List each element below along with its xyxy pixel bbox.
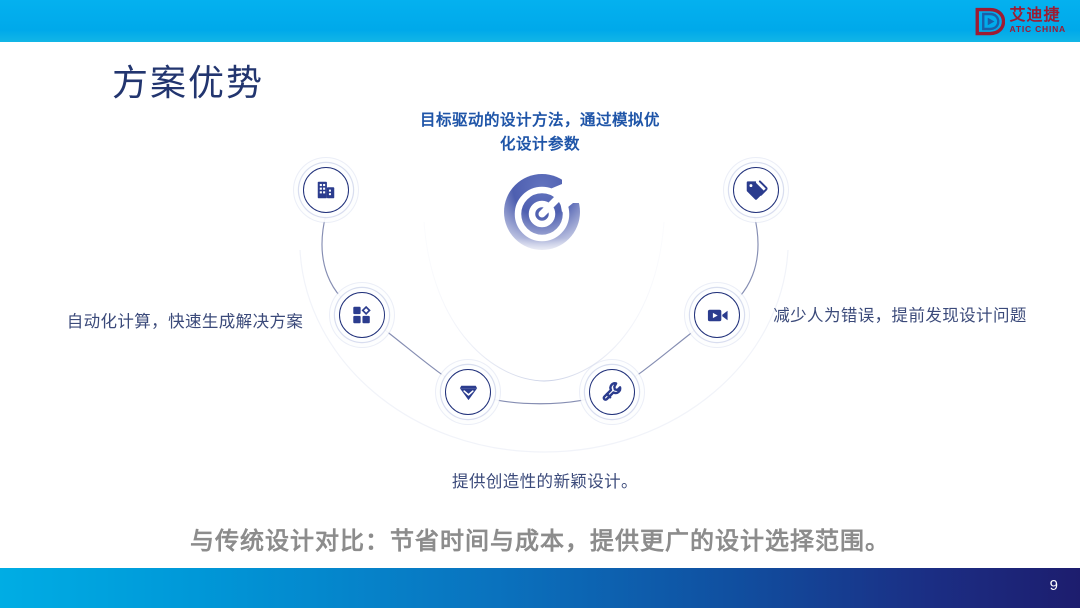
target-arrow-icon [494, 162, 594, 262]
node-grid[interactable] [339, 292, 385, 338]
presentation-slide: 艾迪捷 ATIC CHINA 方案优势 目标驱动的设计方法，通过模拟优化设计参数 [0, 0, 1080, 608]
node-wrench[interactable] [589, 369, 635, 415]
node-diamond[interactable] [445, 369, 491, 415]
tag-icon [745, 179, 768, 202]
caption-bottom: 提供创造性的新颖设计。 [400, 468, 690, 497]
diamond-icon [457, 381, 480, 404]
bottom-banner: 9 [0, 568, 1080, 608]
caption-left: 自动化计算，快速生成解决方案 [40, 308, 330, 337]
grid-squares-icon [351, 304, 373, 326]
summary-statement: 与传统设计对比：节省时间与成本，提供更广的设计选择范围。 [0, 521, 1080, 556]
node-building[interactable] [303, 167, 349, 213]
wrench-icon [601, 381, 623, 403]
node-tag[interactable] [733, 167, 779, 213]
video-camera-icon [706, 304, 729, 327]
node-video[interactable] [694, 292, 740, 338]
building-icon [315, 179, 337, 201]
page-number: 9 [1050, 577, 1058, 594]
caption-right: 减少人为错误，提前发现设计问题 [760, 302, 1040, 331]
